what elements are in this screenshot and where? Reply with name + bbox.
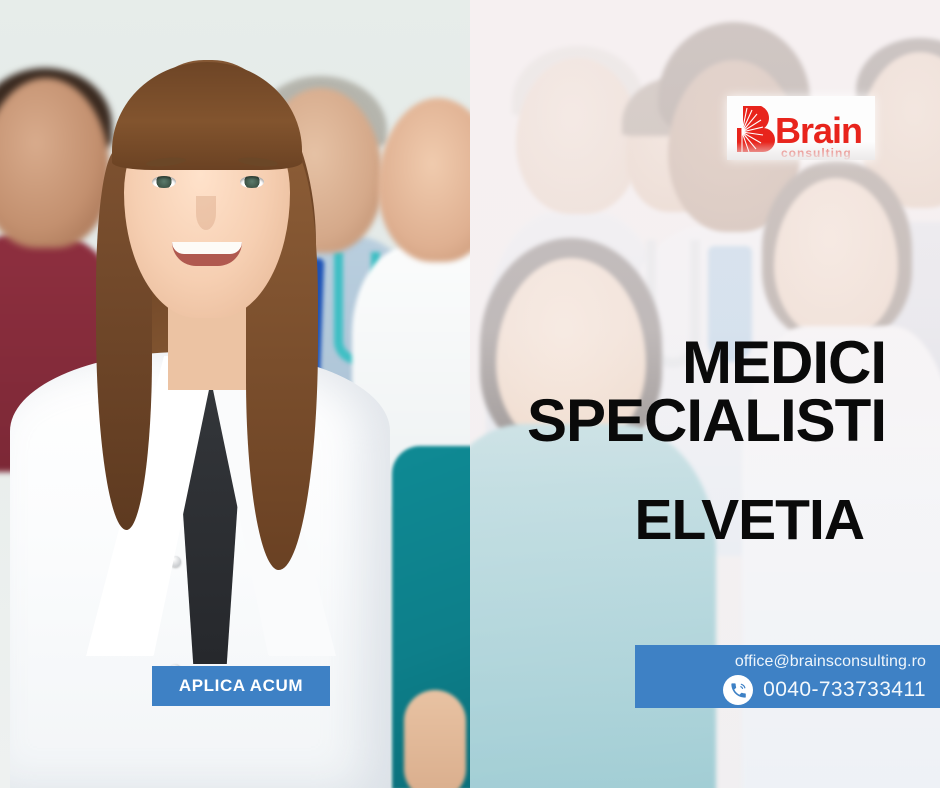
- lead-doctor-fringe: [112, 62, 302, 170]
- redhead-doctor-face: [378, 98, 470, 262]
- eye-left: [152, 176, 176, 188]
- contact-phone-number[interactable]: 0040-733733411: [763, 678, 926, 702]
- logo-fade-mask: [727, 142, 875, 160]
- headline-line-1: MEDICI: [527, 334, 886, 392]
- viber-phone-icon: [723, 675, 753, 705]
- eye-right: [240, 176, 264, 188]
- brand-logo[interactable]: Brain consulting: [727, 96, 875, 160]
- headline-line-2: SPECIALISTI: [527, 392, 886, 450]
- headline-block: MEDICI SPECIALISTI: [527, 334, 886, 449]
- apply-now-button[interactable]: APLICA ACUM: [152, 666, 330, 706]
- contact-email[interactable]: office@brainsconsulting.ro: [635, 652, 926, 672]
- contact-box: office@brainsconsulting.ro 0040-73373341…: [635, 645, 940, 708]
- country-label: ELVETIA: [635, 492, 864, 549]
- scrubs-arm: [404, 690, 466, 788]
- nose: [196, 196, 216, 230]
- contact-phone-row: 0040-733733411: [635, 675, 926, 705]
- apply-now-label: APLICA ACUM: [179, 676, 303, 696]
- teeth: [172, 242, 242, 254]
- poster-canvas: Brain consulting MEDICI SPECIALISTI ELVE…: [0, 0, 940, 788]
